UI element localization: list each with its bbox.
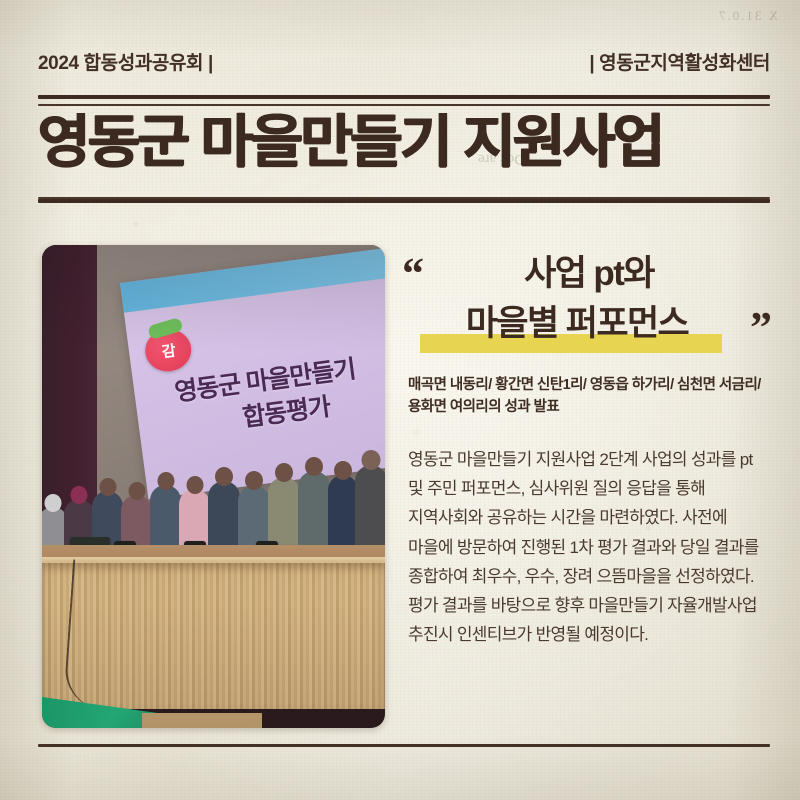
content-column: “ ” 사업 pt와 마을별 퍼포먼스 매곡면 내동리/ 황간면 신탄1리/ 영… <box>408 244 770 650</box>
headline-block: “ ” 사업 pt와 마을별 퍼포먼스 <box>408 244 770 362</box>
headline-line-2: 마을별 퍼포먼스 <box>396 306 758 341</box>
poster-card: X 31.0.7 Doc are 2024 합동성과공유회 | | 영동군지역활… <box>0 0 800 800</box>
divider-top <box>38 95 770 106</box>
header-organization-label: | 영동군지역활성화센터 <box>589 48 770 75</box>
header-event-label: 2024 합동성과공유회 | <box>38 48 213 75</box>
poster-header: 2024 합동성과공유회 | | 영동군지역활성화센터 <box>38 48 770 75</box>
divider-bottom-line <box>38 744 770 747</box>
headline-line-1: 사업 pt와 <box>408 256 770 291</box>
divider-under-title-thick <box>38 199 770 203</box>
subtitle-village-list: 매곡면 내동리/ 황간면 신탄1리/ 영동읍 하가리/ 심천면 서금리/ 용화면… <box>408 374 770 419</box>
divider-bottom <box>38 744 770 747</box>
event-photo: 감 영동군 마을만들기 합동평가 <box>42 245 385 728</box>
photo-color-grade <box>42 245 385 728</box>
body-paragraph: 영동군 마을만들기 지원사업 2단계 사업의 성과를 pt 및 주민 퍼포먼스,… <box>408 445 770 650</box>
divider-top-thin <box>38 104 770 106</box>
page-title: 영동군 마을만들기 지원사업 <box>38 114 663 171</box>
divider-under-title <box>38 192 770 203</box>
ghost-print-mark: X 31.0.7 <box>717 8 778 24</box>
divider-top-thick <box>38 95 770 99</box>
